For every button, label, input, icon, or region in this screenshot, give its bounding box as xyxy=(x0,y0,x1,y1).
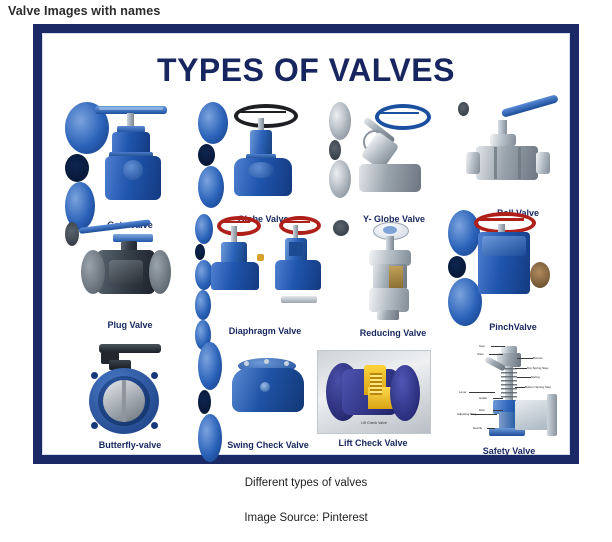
diagram-label: Spring xyxy=(531,375,540,379)
valve-cell-lift-check: Lift Check Valve Lift Check Valve xyxy=(311,350,451,470)
diagram-label: Stem xyxy=(477,352,484,356)
image-source-caption: Image Source: Pinterest xyxy=(0,512,612,524)
valve-label: Reducing Valve xyxy=(333,328,453,338)
image-caption: Different types of valves xyxy=(0,477,612,489)
valve-cell-y-globe: Y- Globe Valve xyxy=(329,102,459,234)
diagram-label: Bottom Spring Step xyxy=(525,385,551,389)
valve-label: Butterfly-valve xyxy=(65,440,195,450)
butterfly-valve-image xyxy=(65,342,195,438)
diagram-label: Top Spring Step xyxy=(527,366,548,370)
poster-inner: TYPES OF VALVES xyxy=(42,33,570,455)
valve-cell-gate: Gate Valve xyxy=(65,102,195,234)
valve-cell-pinch: PinchValve xyxy=(448,210,578,354)
valve-label: Lift Check Valve xyxy=(311,438,435,448)
lift-check-valve-image: Lift Check Valve xyxy=(317,350,431,434)
poster-frame: TYPES OF VALVES xyxy=(33,24,579,464)
poster-title: TYPES OF VALVES xyxy=(43,52,569,89)
gate-valve-image xyxy=(65,102,195,212)
diaphragm-valve-image xyxy=(195,214,335,320)
valve-grid: Gate Valve xyxy=(43,102,569,448)
globe-valve-image xyxy=(198,102,328,210)
page-title: Valve Images with names xyxy=(8,4,160,18)
diagram-label: Disc xyxy=(479,408,485,412)
valve-label: Diaphragm Valve xyxy=(195,326,335,336)
pinch-valve-image xyxy=(448,210,578,320)
diagram-label: Bonnet xyxy=(533,356,543,360)
photo-inner-caption: Lift Check Valve xyxy=(318,421,430,425)
valve-label: Plug Valve xyxy=(65,320,195,330)
valve-label: Safety Valve xyxy=(443,446,575,456)
reducing-valve-image xyxy=(333,220,453,324)
valve-cell-safety: Cap Stem Bonnet Top Spring Step Spring B… xyxy=(443,342,583,470)
safety-valve-image: Cap Stem Bonnet Top Spring Step Spring B… xyxy=(453,342,565,438)
plug-valve-image xyxy=(65,222,195,318)
valve-cell-plug: Plug Valve xyxy=(65,222,195,352)
diagram-label: Nozzle xyxy=(473,426,482,430)
valve-cell-diaphragm: Diaphragm Valve xyxy=(195,214,335,354)
diagram-label: Lever xyxy=(459,390,467,394)
diagram-label: Cap xyxy=(479,344,485,348)
valve-label: PinchValve xyxy=(448,322,578,332)
ball-valve-image xyxy=(458,102,578,204)
valve-cell-butterfly: Butterfly-valve xyxy=(65,342,195,462)
y-globe-valve-image xyxy=(329,102,459,210)
valve-cell-reducing: Reducing Valve xyxy=(333,220,453,354)
diagram-label: Guide xyxy=(479,396,487,400)
